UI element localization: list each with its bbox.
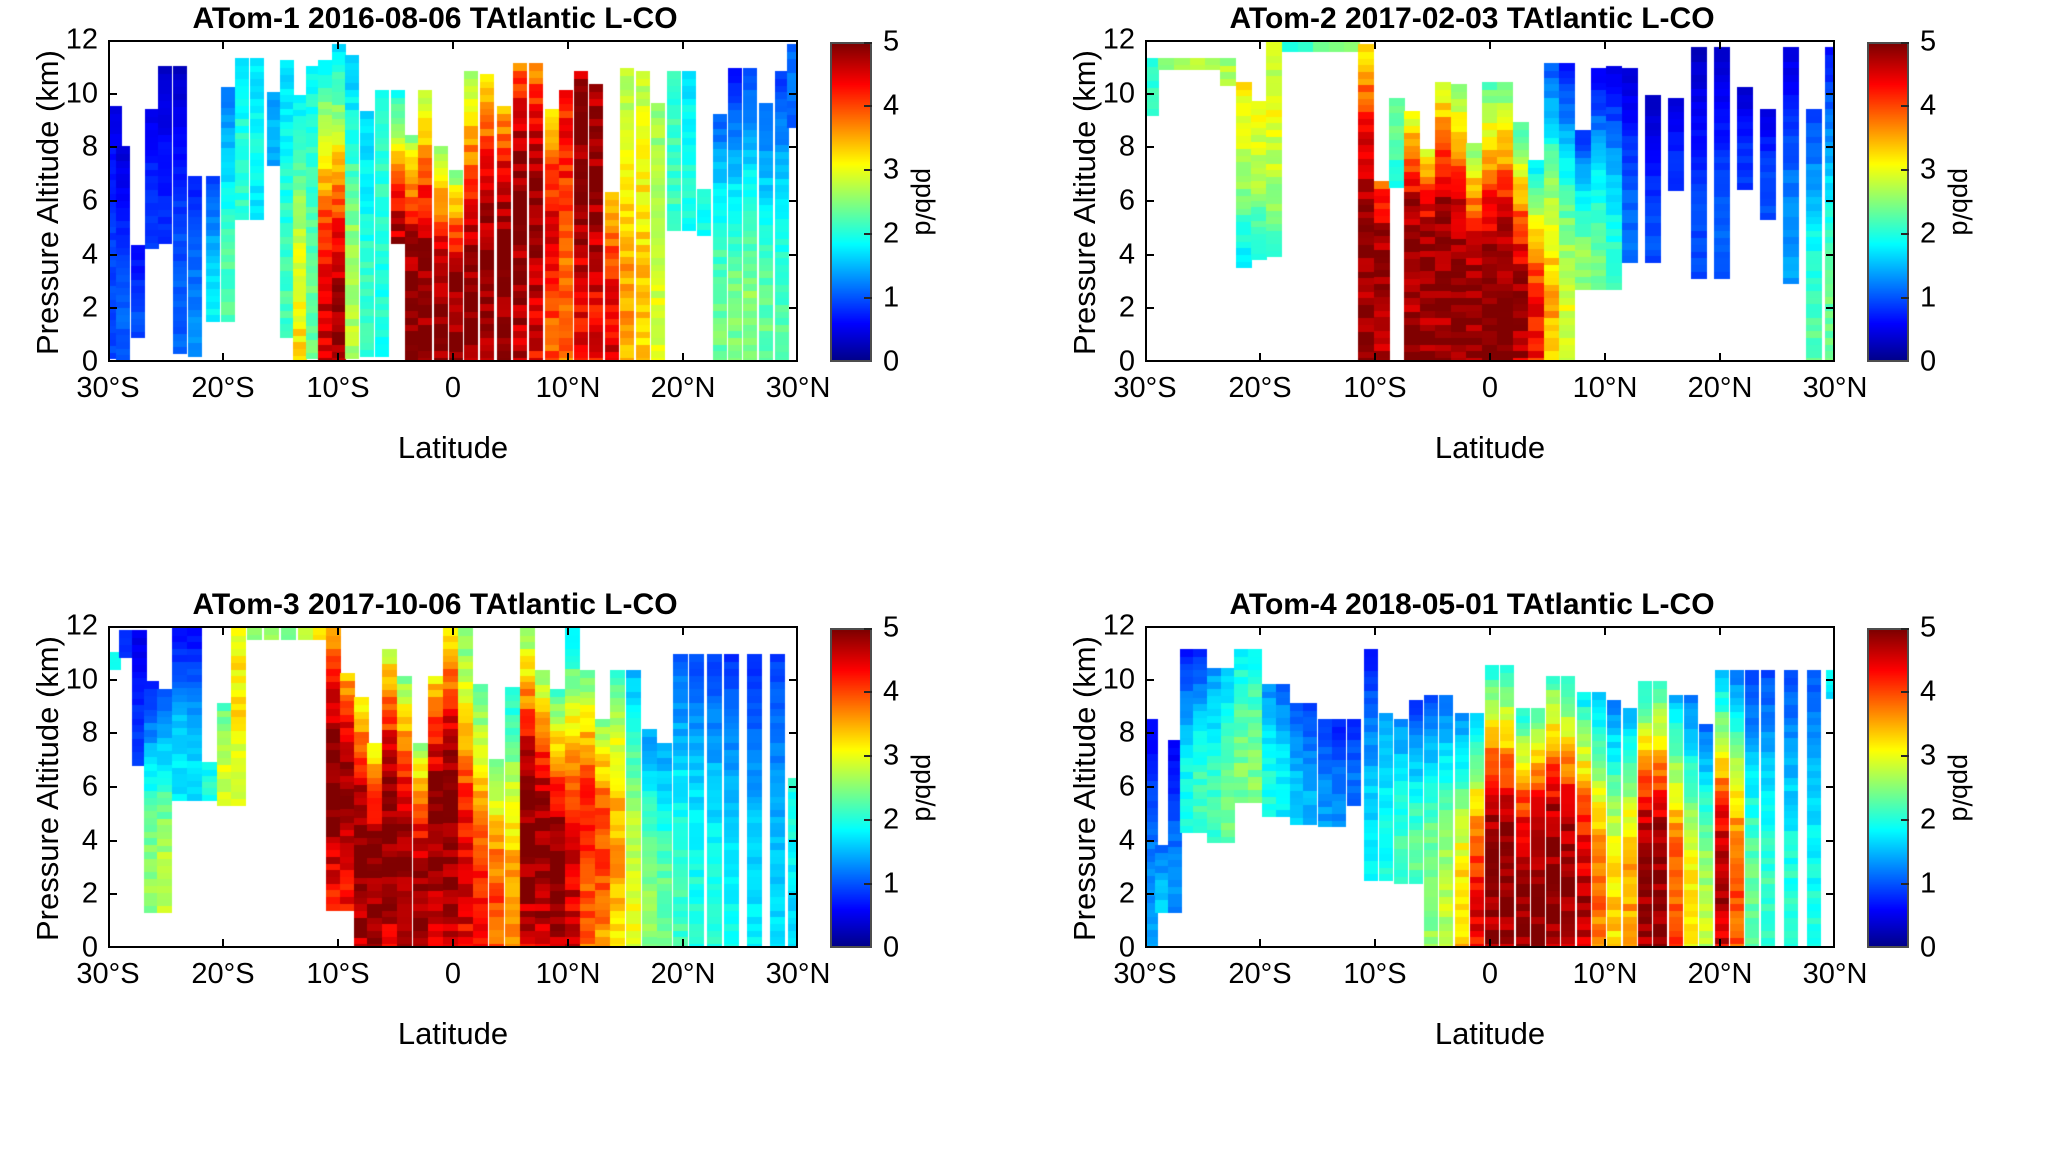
x-axis-label: Latitude bbox=[1145, 1016, 1835, 1052]
x-tick-mark bbox=[1489, 353, 1491, 362]
colorbar-tick-mark bbox=[864, 233, 872, 235]
colorbar-tick-label: 1 bbox=[1920, 282, 1936, 315]
y-tick-label: 6 bbox=[1119, 771, 1135, 804]
y-tick-label: 2 bbox=[1119, 292, 1135, 325]
colorbar-tick-mark bbox=[1901, 755, 1909, 757]
x-tick-mark bbox=[796, 939, 798, 948]
x-tick-label: 0 bbox=[1482, 958, 1498, 991]
x-tick-mark bbox=[222, 939, 224, 948]
x-tick-label: 30°N bbox=[1803, 372, 1868, 405]
panel-atom-3: ATom-3 2017-10-06 TAtlantic L-CO Pressur… bbox=[0, 586, 1030, 1171]
x-ticks: 30°S20°S10°S010°N20°N30°N bbox=[1145, 626, 1835, 948]
x-tick-label: 30°N bbox=[766, 372, 831, 405]
x-tick-label: 10°N bbox=[536, 372, 601, 405]
y-tick-label: 2 bbox=[82, 292, 98, 325]
colorbar-tick-mark bbox=[1901, 105, 1909, 107]
colorbar-tick-label: 2 bbox=[883, 804, 899, 837]
x-tick-mark bbox=[1145, 939, 1147, 948]
colorbar-tick-label: 0 bbox=[883, 932, 899, 965]
x-tick-label: 10°N bbox=[536, 958, 601, 991]
y-tick-label: 4 bbox=[82, 824, 98, 857]
colorbar-tick-label: 1 bbox=[883, 868, 899, 901]
x-tick-mark bbox=[222, 626, 224, 635]
colorbar-label: ppb/d bbox=[1946, 168, 1977, 236]
x-tick-mark bbox=[222, 353, 224, 362]
colorbar-tick-label: 1 bbox=[883, 282, 899, 315]
x-tick-mark bbox=[1489, 40, 1491, 49]
y-tick-label: 12 bbox=[66, 610, 98, 643]
y-tick-label: 2 bbox=[82, 878, 98, 911]
colorbar-label: ppb/d bbox=[1946, 754, 1977, 822]
colorbar-tick-label: 3 bbox=[883, 740, 899, 773]
x-tick-label: 10°S bbox=[306, 372, 369, 405]
x-ticks: 30°S20°S10°S010°N20°N30°N bbox=[108, 40, 798, 362]
x-tick-mark bbox=[682, 353, 684, 362]
panel-atom-4: ATom-4 2018-05-01 TAtlantic L-CO Pressur… bbox=[1037, 586, 2067, 1171]
x-tick-mark bbox=[796, 353, 798, 362]
colorbar-tick-mark bbox=[1901, 233, 1909, 235]
colorbar-tick-mark bbox=[1901, 169, 1909, 171]
y-tick-label: 10 bbox=[66, 77, 98, 110]
colorbar-tick-label: 2 bbox=[1920, 804, 1936, 837]
x-tick-mark bbox=[337, 939, 339, 948]
panel-title: ATom-3 2017-10-06 TAtlantic L-CO bbox=[20, 588, 850, 622]
x-tick-mark bbox=[1604, 40, 1606, 49]
x-tick-mark bbox=[1604, 353, 1606, 362]
panel-atom-2: ATom-2 2017-02-03 TAtlantic L-CO Pressur… bbox=[1037, 0, 2067, 585]
y-tick-label: 10 bbox=[66, 663, 98, 696]
colorbar-tick-label: 4 bbox=[1920, 676, 1936, 709]
colorbar-tick-mark bbox=[1901, 297, 1909, 299]
x-tick-label: 20°N bbox=[1688, 372, 1753, 405]
x-tick-mark bbox=[682, 626, 684, 635]
x-tick-mark bbox=[1145, 626, 1147, 635]
y-tick-label: 6 bbox=[82, 771, 98, 804]
figure-root: ATom-1 2016-08-06 TAtlantic L-CO Pressur… bbox=[0, 0, 2067, 1171]
x-tick-mark bbox=[1719, 40, 1721, 49]
x-tick-mark bbox=[682, 40, 684, 49]
x-tick-label: 30°N bbox=[766, 958, 831, 991]
x-tick-mark bbox=[1719, 939, 1721, 948]
x-tick-label: 10°S bbox=[1343, 958, 1406, 991]
x-ticks: 30°S20°S10°S010°N20°N30°N bbox=[1145, 40, 1835, 362]
y-tick-label: 10 bbox=[1103, 663, 1135, 696]
x-tick-label: 20°N bbox=[651, 958, 716, 991]
y-tick-label: 4 bbox=[82, 238, 98, 271]
y-tick-label: 12 bbox=[66, 24, 98, 57]
y-tick-label: 12 bbox=[1103, 610, 1135, 643]
x-tick-label: 30°S bbox=[76, 958, 139, 991]
x-tick-mark bbox=[796, 626, 798, 635]
x-tick-mark bbox=[337, 626, 339, 635]
colorbar-tick-label: 2 bbox=[883, 218, 899, 251]
x-tick-mark bbox=[222, 40, 224, 49]
x-tick-label: 30°S bbox=[76, 372, 139, 405]
colorbar-tick-label: 4 bbox=[1920, 90, 1936, 123]
x-tick-label: 10°N bbox=[1573, 958, 1638, 991]
x-tick-label: 20°S bbox=[1228, 958, 1291, 991]
x-tick-label: 20°S bbox=[1228, 372, 1291, 405]
x-tick-mark bbox=[452, 353, 454, 362]
x-tick-mark bbox=[1719, 626, 1721, 635]
colorbar-label: ppb/d bbox=[909, 168, 940, 236]
colorbar-tick-label: 4 bbox=[883, 676, 899, 709]
x-tick-mark bbox=[1489, 626, 1491, 635]
colorbar-tick-mark bbox=[864, 169, 872, 171]
colorbar-ticks: 012345 bbox=[1867, 628, 1909, 948]
x-tick-label: 20°S bbox=[191, 372, 254, 405]
x-tick-mark bbox=[452, 626, 454, 635]
y-tick-label: 8 bbox=[1119, 131, 1135, 164]
colorbar-tick-mark bbox=[864, 691, 872, 693]
x-tick-mark bbox=[108, 353, 110, 362]
x-tick-label: 30°S bbox=[1113, 372, 1176, 405]
x-tick-mark bbox=[567, 939, 569, 948]
x-tick-label: 0 bbox=[445, 958, 461, 991]
x-tick-mark bbox=[1489, 939, 1491, 948]
x-tick-mark bbox=[1259, 939, 1261, 948]
panel-title: ATom-2 2017-02-03 TAtlantic L-CO bbox=[1057, 2, 1887, 36]
x-tick-mark bbox=[1259, 40, 1261, 49]
x-tick-mark bbox=[1145, 40, 1147, 49]
colorbar-tick-mark bbox=[864, 883, 872, 885]
x-tick-label: 10°N bbox=[1573, 372, 1638, 405]
colorbar-tick-mark bbox=[1901, 628, 1909, 630]
colorbar-label: ppb/d bbox=[909, 754, 940, 822]
colorbar-tick-mark bbox=[1901, 691, 1909, 693]
y-tick-label: 12 bbox=[1103, 24, 1135, 57]
y-axis-label: Pressure Altitude (km) bbox=[30, 50, 66, 355]
colorbar-tick-label: 5 bbox=[1920, 612, 1936, 645]
panel-title: ATom-4 2018-05-01 TAtlantic L-CO bbox=[1057, 588, 1887, 622]
x-axis-label: Latitude bbox=[108, 430, 798, 466]
x-tick-mark bbox=[1833, 626, 1835, 635]
y-axis-label: Pressure Altitude (km) bbox=[30, 636, 66, 941]
colorbar-tick-label: 3 bbox=[1920, 740, 1936, 773]
x-tick-mark bbox=[567, 626, 569, 635]
y-tick-label: 8 bbox=[1119, 717, 1135, 750]
colorbar-tick-label: 3 bbox=[883, 154, 899, 187]
colorbar-tick-mark bbox=[1901, 42, 1909, 44]
x-tick-label: 30°S bbox=[1113, 958, 1176, 991]
x-tick-mark bbox=[1374, 353, 1376, 362]
colorbar-tick-label: 0 bbox=[883, 346, 899, 379]
colorbar-tick-label: 1 bbox=[1920, 868, 1936, 901]
x-tick-mark bbox=[337, 353, 339, 362]
colorbar-ticks: 012345 bbox=[830, 628, 872, 948]
colorbar-tick-mark bbox=[864, 755, 872, 757]
x-tick-label: 30°N bbox=[1803, 958, 1868, 991]
panel-title: ATom-1 2016-08-06 TAtlantic L-CO bbox=[20, 2, 850, 36]
colorbar-ticks: 012345 bbox=[1867, 42, 1909, 362]
colorbar-tick-label: 0 bbox=[1920, 932, 1936, 965]
colorbar-tick-label: 0 bbox=[1920, 346, 1936, 379]
y-axis-label: Pressure Altitude (km) bbox=[1067, 636, 1103, 941]
x-tick-mark bbox=[452, 939, 454, 948]
colorbar-tick-label: 5 bbox=[1920, 26, 1936, 59]
colorbar-ticks: 012345 bbox=[830, 42, 872, 362]
colorbar-tick-mark bbox=[864, 105, 872, 107]
x-tick-mark bbox=[337, 40, 339, 49]
x-tick-label: 20°N bbox=[1688, 958, 1753, 991]
colorbar-tick-mark bbox=[864, 42, 872, 44]
x-axis-label: Latitude bbox=[108, 1016, 798, 1052]
x-tick-mark bbox=[1719, 353, 1721, 362]
y-tick-label: 8 bbox=[82, 131, 98, 164]
x-tick-mark bbox=[796, 40, 798, 49]
colorbar-tick-mark bbox=[864, 297, 872, 299]
colorbar-tick-mark bbox=[864, 819, 872, 821]
x-tick-mark bbox=[1604, 626, 1606, 635]
y-tick-label: 4 bbox=[1119, 824, 1135, 857]
x-tick-label: 0 bbox=[1482, 372, 1498, 405]
y-tick-label: 6 bbox=[1119, 185, 1135, 218]
x-tick-mark bbox=[108, 40, 110, 49]
x-tick-mark bbox=[108, 626, 110, 635]
x-ticks: 30°S20°S10°S010°N20°N30°N bbox=[108, 626, 798, 948]
colorbar-tick-mark bbox=[1901, 883, 1909, 885]
x-tick-label: 0 bbox=[445, 372, 461, 405]
x-tick-mark bbox=[1374, 626, 1376, 635]
colorbar-tick-label: 5 bbox=[883, 612, 899, 645]
x-tick-label: 10°S bbox=[306, 958, 369, 991]
x-tick-mark bbox=[1259, 353, 1261, 362]
x-tick-mark bbox=[1833, 939, 1835, 948]
x-tick-mark bbox=[567, 353, 569, 362]
x-tick-mark bbox=[1145, 353, 1147, 362]
x-tick-label: 20°S bbox=[191, 958, 254, 991]
y-tick-label: 4 bbox=[1119, 238, 1135, 271]
x-tick-mark bbox=[108, 939, 110, 948]
x-tick-mark bbox=[1604, 939, 1606, 948]
y-tick-label: 10 bbox=[1103, 77, 1135, 110]
colorbar-tick-mark bbox=[864, 628, 872, 630]
y-tick-label: 8 bbox=[82, 717, 98, 750]
y-tick-label: 2 bbox=[1119, 878, 1135, 911]
y-tick-label: 6 bbox=[82, 185, 98, 218]
y-axis-label: Pressure Altitude (km) bbox=[1067, 50, 1103, 355]
x-tick-mark bbox=[1374, 40, 1376, 49]
x-tick-mark bbox=[682, 939, 684, 948]
x-axis-label: Latitude bbox=[1145, 430, 1835, 466]
x-tick-mark bbox=[1259, 626, 1261, 635]
x-tick-label: 20°N bbox=[651, 372, 716, 405]
x-tick-mark bbox=[452, 40, 454, 49]
colorbar-tick-label: 4 bbox=[883, 90, 899, 123]
x-tick-mark bbox=[1374, 939, 1376, 948]
x-tick-mark bbox=[1833, 353, 1835, 362]
x-tick-mark bbox=[567, 40, 569, 49]
colorbar-tick-label: 2 bbox=[1920, 218, 1936, 251]
panel-atom-1: ATom-1 2016-08-06 TAtlantic L-CO Pressur… bbox=[0, 0, 1030, 585]
colorbar-tick-label: 3 bbox=[1920, 154, 1936, 187]
colorbar-tick-mark bbox=[1901, 819, 1909, 821]
x-tick-label: 10°S bbox=[1343, 372, 1406, 405]
colorbar-tick-label: 5 bbox=[883, 26, 899, 59]
x-tick-mark bbox=[1833, 40, 1835, 49]
